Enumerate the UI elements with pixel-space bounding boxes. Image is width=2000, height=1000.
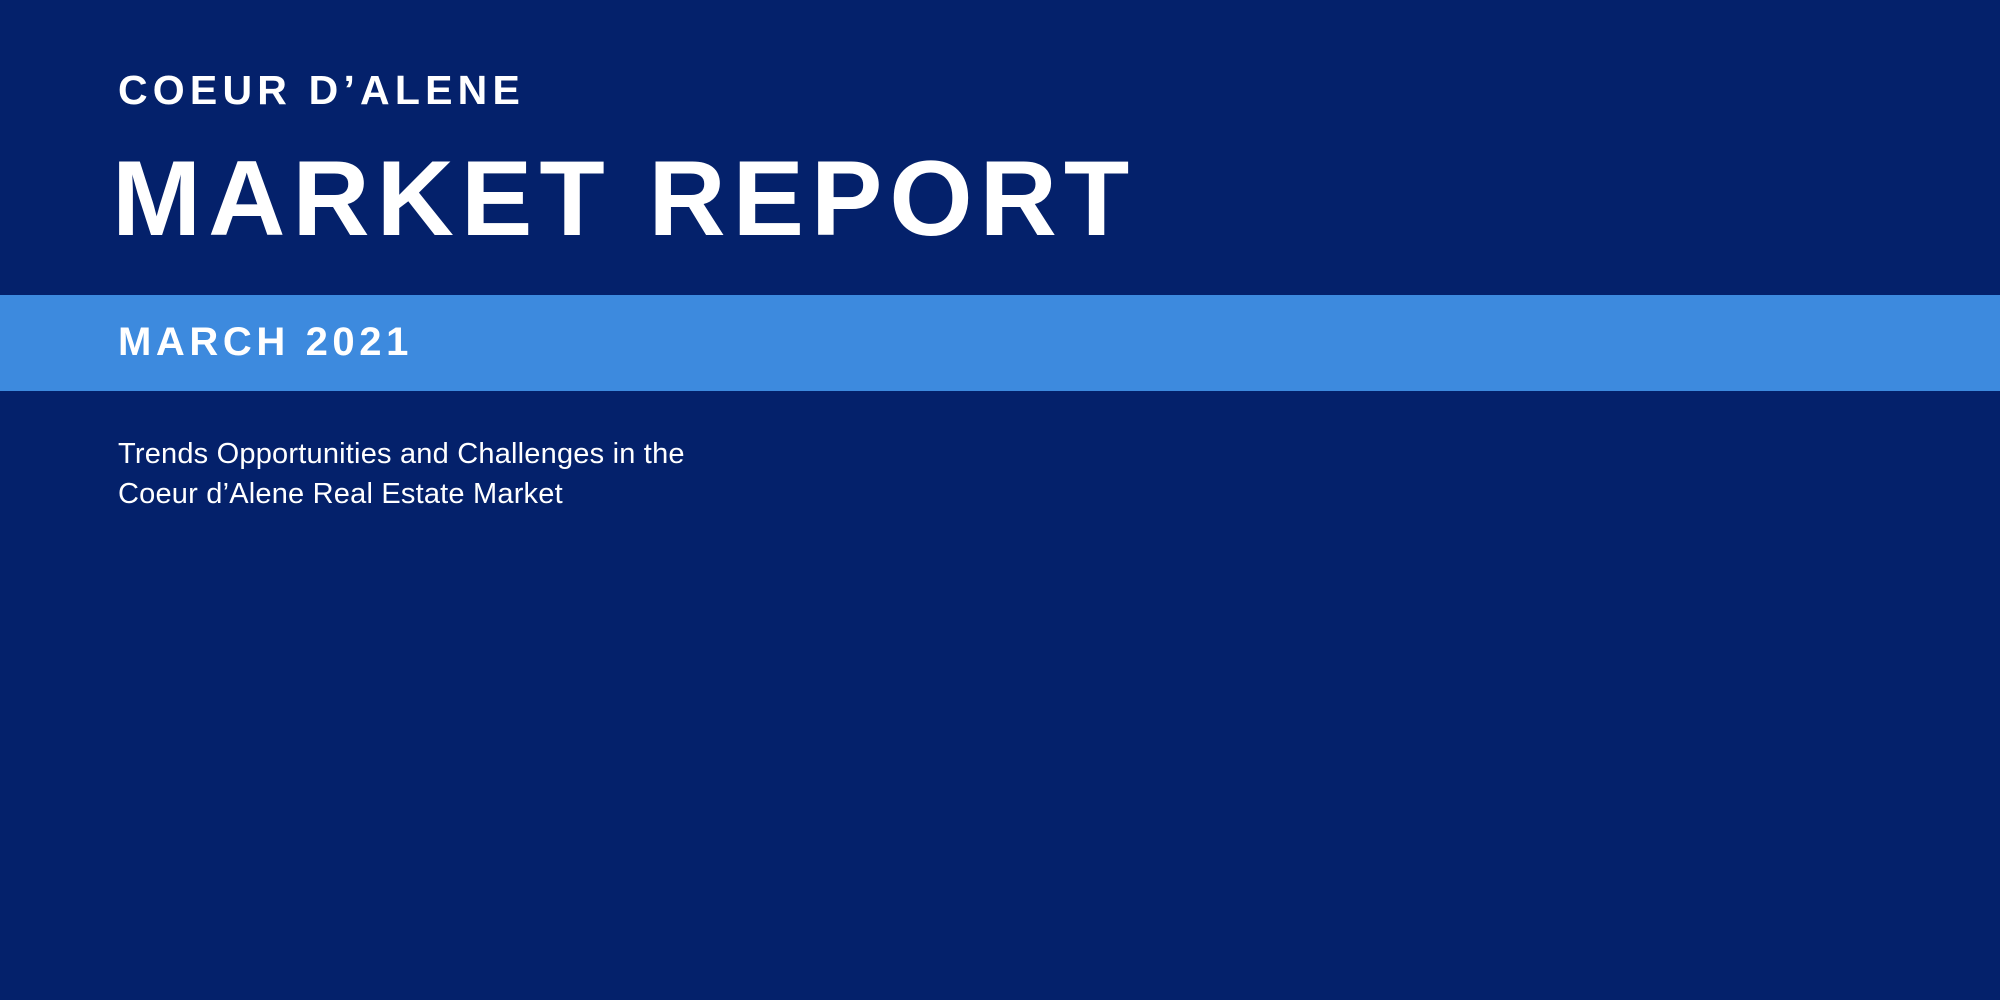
page-subtitle-line-2: Coeur d’Alene Real Estate Market (118, 474, 685, 514)
page-title: MARKET REPORT (112, 145, 1136, 252)
market-report-cover: COEUR D’ALENE MARKET REPORT MARCH 2021 T… (0, 0, 2000, 1000)
page-eyebrow: COEUR D’ALENE (118, 70, 525, 111)
page-subtitle: Trends Opportunities and Challenges in t… (118, 434, 685, 514)
page-subtitle-line-1: Trends Opportunities and Challenges in t… (118, 434, 685, 474)
cover-content: COEUR D’ALENE MARKET REPORT MARCH 2021 T… (0, 0, 2000, 1000)
date-band: MARCH 2021 (0, 295, 2000, 391)
date-band-label: MARCH 2021 (118, 322, 413, 362)
